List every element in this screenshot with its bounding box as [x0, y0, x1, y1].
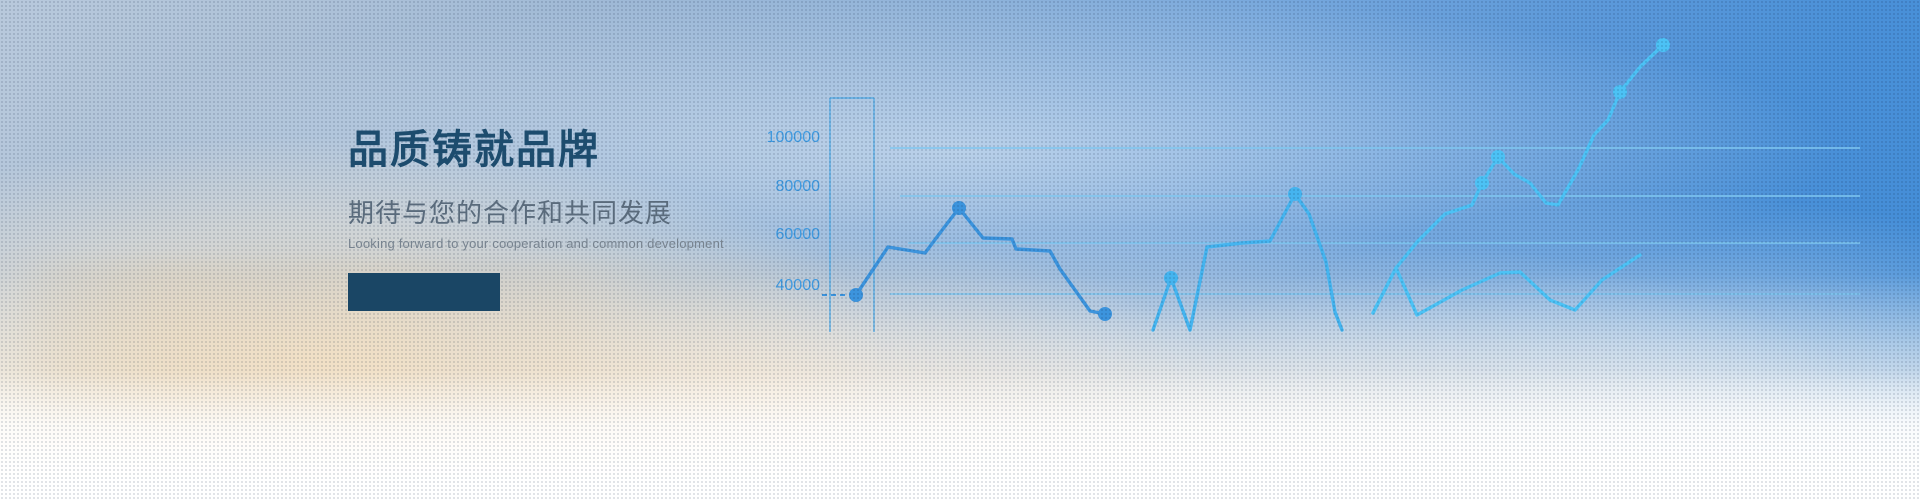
page-title: 品质铸就品牌	[348, 126, 818, 174]
hero-text-block: 品质铸就品牌 期待与您的合作和共同发展 Looking forward to y…	[348, 126, 818, 311]
page-subtitle: 期待与您的合作和共同发展	[348, 198, 818, 229]
halftone-dot-overlay	[0, 0, 1920, 500]
hero-banner: 100000 80000 60000 40000	[0, 0, 1920, 500]
page-subtitle-en: Looking forward to your cooperation and …	[348, 236, 818, 253]
cta-button[interactable]	[348, 273, 500, 311]
